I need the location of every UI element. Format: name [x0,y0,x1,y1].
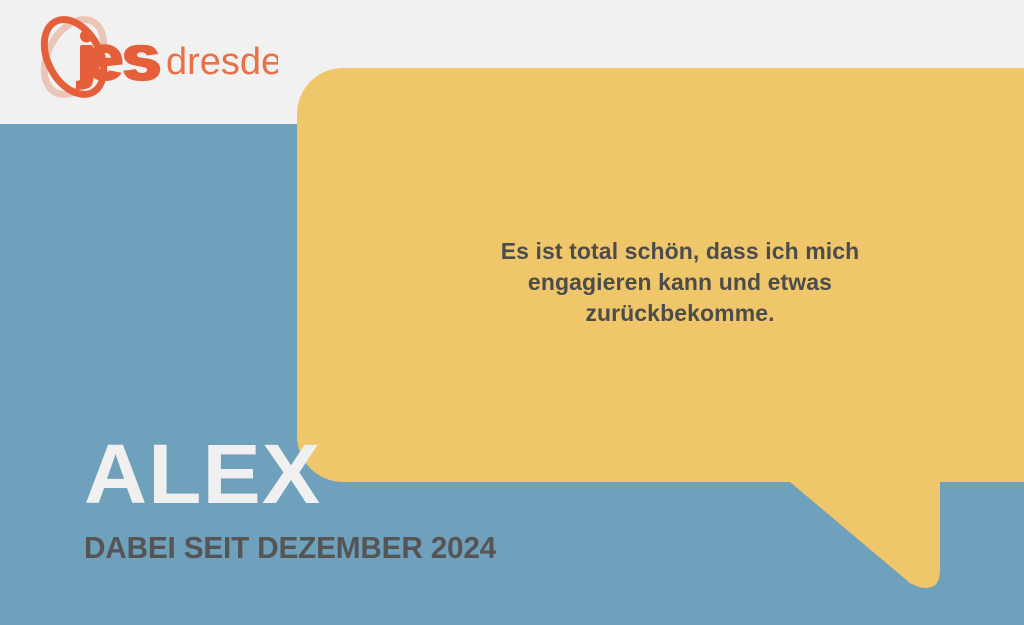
speech-bubble-tail [490,410,945,595]
person-identity-block: ALEX DABEI SEIT DEZEMBER 2024 [84,432,513,566]
jes-dresden-logo[interactable]: dresden [18,12,278,102]
quote-line-3: zurückbekomme. [420,298,940,329]
quote-line-1: Es ist total schön, dass ich mich [420,236,940,267]
person-since-label: DABEI SEIT DEZEMBER 2024 [84,530,496,566]
svg-text:dresden: dresden [166,41,278,83]
orbit-rings-icon [32,12,115,102]
person-name: ALEX [84,432,530,516]
dresden-wordmark: dresden [166,41,278,83]
poster-canvas: Es ist total schön, dass ich mich engagi… [0,0,1024,625]
quote-text: Es ist total schön, dass ich mich engagi… [420,236,940,329]
quote-line-2: engagieren kann und etwas [420,267,940,298]
jes-wordmark [76,30,160,91]
